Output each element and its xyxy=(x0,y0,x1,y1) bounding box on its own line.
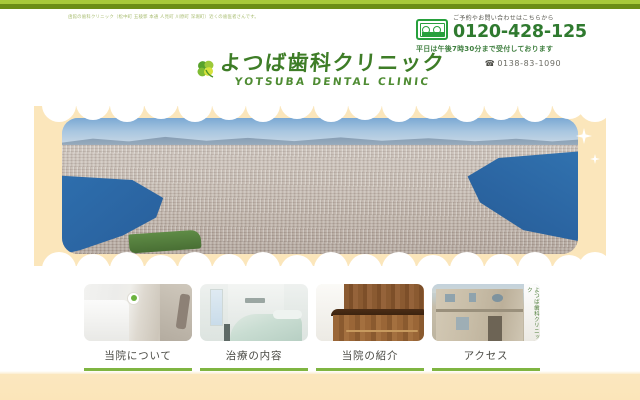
footer-band xyxy=(0,374,640,400)
nav-card-introduction[interactable]: 当院の紹介 xyxy=(316,284,424,371)
page-root: 函館の歯科クリニック（松中町 五稜郭 本通 人見町 川原町 深堀町）近くの歯医者… xyxy=(0,0,640,400)
reception-counter-photo xyxy=(316,284,424,341)
logo-english-text: YOTSUBA DENTAL CLINIC xyxy=(219,76,445,89)
logo-japanese-text: よつば歯科クリニック xyxy=(219,52,446,75)
hakodate-panorama-photo xyxy=(62,118,578,254)
treatment-room-photo xyxy=(200,284,308,341)
site-logo[interactable]: よつば歯科クリニック YOTSUBA DENTAL CLINIC xyxy=(0,52,640,104)
nav-card-label: 当院について xyxy=(84,348,192,363)
four-leaf-clover-icon xyxy=(195,58,217,80)
site-tagline: 函館の歯科クリニック（松中町 五稜郭 本通 人見町 川原町 深堀町）近くの歯医者… xyxy=(68,14,259,21)
clinic-sign-text: よつば歯科クリニック xyxy=(525,287,539,341)
free-dial-icon xyxy=(416,19,448,40)
clover-sticker-icon xyxy=(127,292,140,305)
nav-card-label: 治療の内容 xyxy=(200,348,308,363)
nav-card-label: アクセス xyxy=(432,348,540,363)
freedial-number[interactable]: 0120-428-125 xyxy=(453,23,630,41)
nav-card-grid: 当院について 治療の内容 当院の紹介 xyxy=(0,284,640,372)
sparkle-icon xyxy=(0,172,10,186)
hero-banner xyxy=(0,106,640,266)
dental-chair-photo xyxy=(84,284,192,341)
nav-card-label: 当院の紹介 xyxy=(316,348,424,363)
nav-card-access[interactable]: よつば歯科クリニック アクセス xyxy=(432,284,540,371)
clinic-vertical-sign: よつば歯科クリニック xyxy=(524,284,540,341)
clinic-exterior-photo: よつば歯科クリニック xyxy=(432,284,540,341)
nav-card-treatment[interactable]: 治療の内容 xyxy=(200,284,308,371)
contact-lead: ご予約やお問い合わせはこちらから xyxy=(453,13,630,22)
nav-card-about[interactable]: 当院について xyxy=(84,284,192,371)
